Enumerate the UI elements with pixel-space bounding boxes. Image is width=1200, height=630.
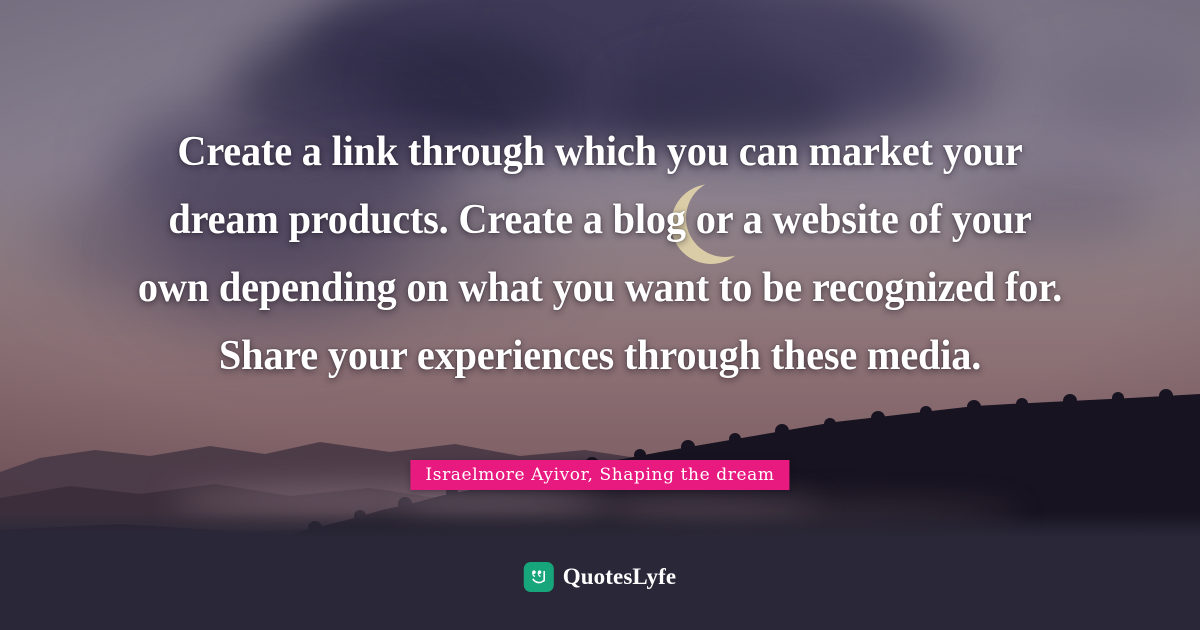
quote-card: Create a link through which you can mark…	[0, 0, 1200, 630]
brand-logo[interactable]: QuotesLyfe	[524, 562, 676, 592]
brand-name: QuotesLyfe	[563, 564, 676, 590]
attribution-badge: Israelmore Ayivor, Shaping the dream	[410, 460, 789, 490]
quote-text: Create a link through which you can mark…	[130, 118, 1071, 390]
card-content: Create a link through which you can mark…	[0, 0, 1200, 630]
quote-marks-icon	[524, 562, 554, 592]
